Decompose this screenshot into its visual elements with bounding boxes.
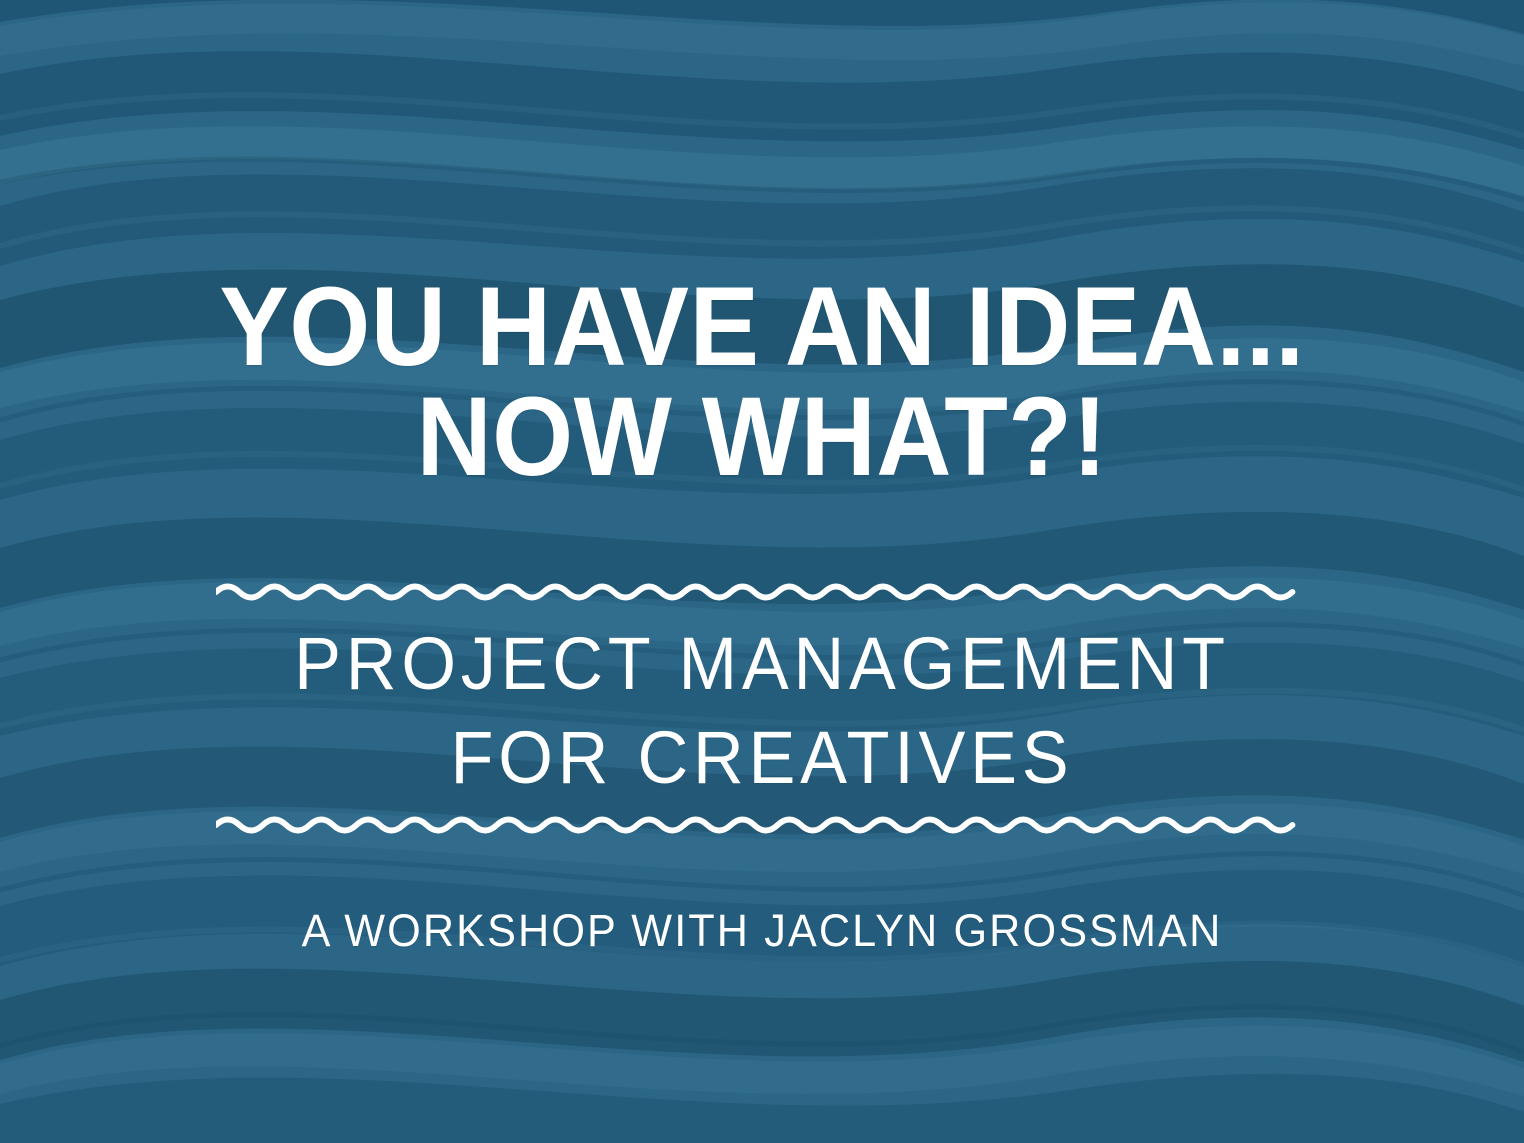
- title-line-1: YOU HAVE AN IDEA...: [53, 272, 1470, 382]
- slide-content: YOU HAVE AN IDEA... NOW WHAT?! PROJECT M…: [0, 0, 1524, 1143]
- subtitle-line-1: PROJECT MANAGEMENT: [38, 617, 1486, 711]
- title-slide: YOU HAVE AN IDEA... NOW WHAT?! PROJECT M…: [0, 0, 1524, 1143]
- title-line-2: NOW WHAT?!: [53, 382, 1470, 492]
- page-title: YOU HAVE AN IDEA... NOW WHAT?!: [0, 272, 1524, 492]
- byline-text: A WORKSHOP WITH JACLYN GROSSMAN: [30, 905, 1493, 957]
- slide-subtitle: PROJECT MANAGEMENT FOR CREATIVES: [0, 617, 1524, 805]
- subtitle-line-2: FOR CREATIVES: [38, 711, 1486, 805]
- wavy-line-icon-bottom: [216, 812, 1308, 838]
- presenter-byline: A WORKSHOP WITH JACLYN GROSSMAN: [0, 905, 1524, 957]
- wavy-line-icon-top: [216, 579, 1308, 605]
